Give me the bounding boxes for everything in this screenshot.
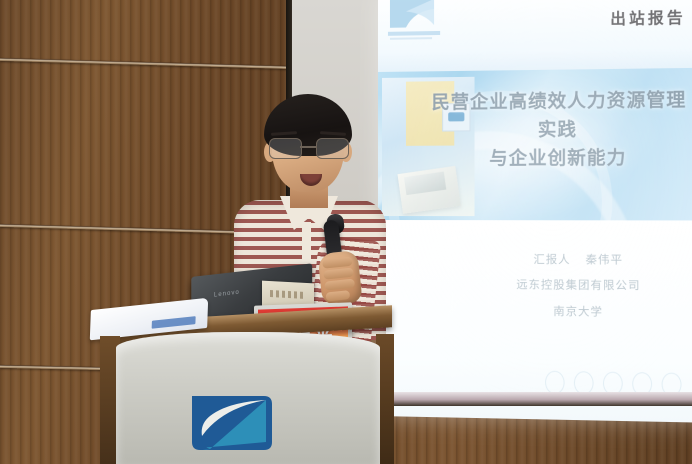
finger: [323, 268, 354, 280]
finger: [322, 257, 353, 269]
screen-bottom-frame: [380, 392, 692, 406]
presenter-university: 南京大学: [481, 298, 678, 326]
glasses-lens-left: [269, 138, 302, 159]
presenter-label: 汇报人: [533, 253, 570, 266]
presentation-slide: 出站报告 民营企业高绩效人力资源管理实践 与企业创新能力 汇报人: [378, 0, 692, 423]
glasses-bridge: [300, 146, 316, 148]
glasses-icon: [268, 138, 350, 158]
laptop-brand-label: Lenovo: [214, 290, 240, 299]
podium-logo-icon: [188, 392, 276, 454]
presenter-row: 汇报人 秦伟平: [481, 246, 678, 273]
slide-title-line-2: 与企业创新能力: [424, 144, 692, 174]
corporate-logo-icon: [384, 0, 456, 44]
presenter-organization: 远东控股集团有限公司: [481, 272, 678, 299]
presenter-name: 秦伟平: [586, 253, 623, 266]
slide-main-title: 民营企业高绩效人力资源管理实践 与企业创新能力: [424, 86, 692, 173]
podium: [96, 300, 396, 464]
slide-header: 出站报告: [378, 0, 692, 72]
speaker-hand: [317, 250, 362, 306]
podium-front-panel: [116, 332, 380, 464]
presentation-room-photo: 出站报告 民营企业高绩效人力资源管理实践 与企业创新能力 汇报人: [0, 0, 692, 464]
slide-header-title: 出站报告: [610, 6, 686, 29]
slide-title-line-1: 民营企业高绩效人力资源管理实践: [432, 90, 687, 141]
speaker-shirt-placket: [302, 222, 311, 262]
finger: [324, 279, 355, 291]
glasses-lens-right: [316, 138, 349, 159]
footer-dot: [545, 371, 565, 395]
projection-screen: 出站报告 民营企业高绩效人力资源管理实践 与企业创新能力 汇报人: [378, 0, 692, 423]
presenter-info-block: 汇报人 秦伟平 远东控股集团有限公司 南京大学: [481, 246, 678, 325]
